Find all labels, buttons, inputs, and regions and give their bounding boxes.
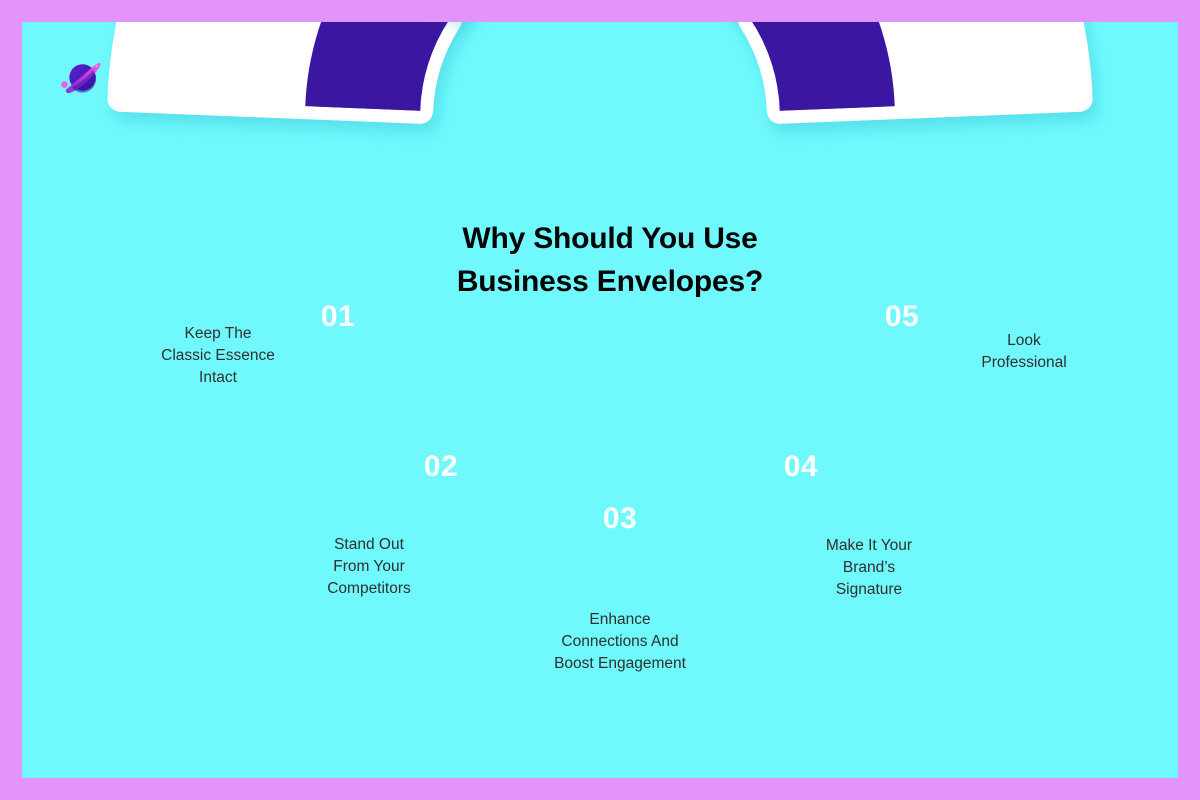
fan-segment-05[interactable] xyxy=(733,22,1080,114)
infographic-panel: webnhubs Why Should You Use Business Env… xyxy=(22,22,1178,778)
fan-diagram xyxy=(22,22,1178,778)
fan-segment-01[interactable] xyxy=(120,22,467,114)
